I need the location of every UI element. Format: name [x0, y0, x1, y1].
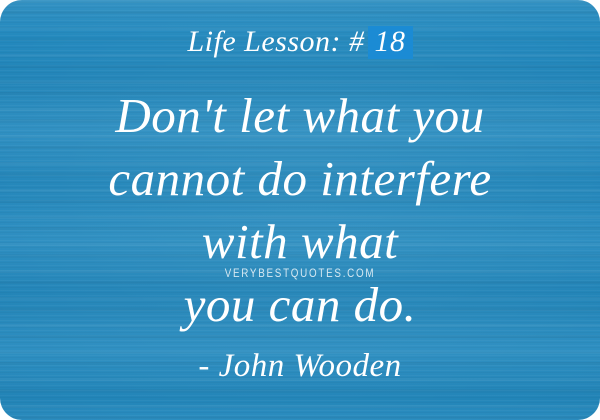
hash-symbol: #: [349, 25, 365, 58]
site-watermark: VERYBESTQUOTES.COM: [54, 265, 546, 281]
quote-text: Don't let what you cannot do interfere w…: [0, 84, 600, 336]
quote-line-4: you can do.: [0, 273, 600, 336]
quote-line-1: Don't let what you: [0, 84, 600, 147]
quote-attribution: - John Wooden: [0, 345, 600, 387]
life-lesson-label: Life Lesson:: [187, 25, 341, 58]
quote-line-3: with what: [0, 210, 600, 273]
quote-line-2: cannot do interfere: [0, 147, 600, 210]
quote-poster: Life Lesson: #18 Don't let what you cann…: [0, 0, 600, 420]
life-lesson-title: Life Lesson: #18: [0, 24, 600, 60]
poster-content: Life Lesson: #18 Don't let what you cann…: [0, 0, 600, 420]
lesson-number-highlight: 18: [368, 26, 413, 59]
